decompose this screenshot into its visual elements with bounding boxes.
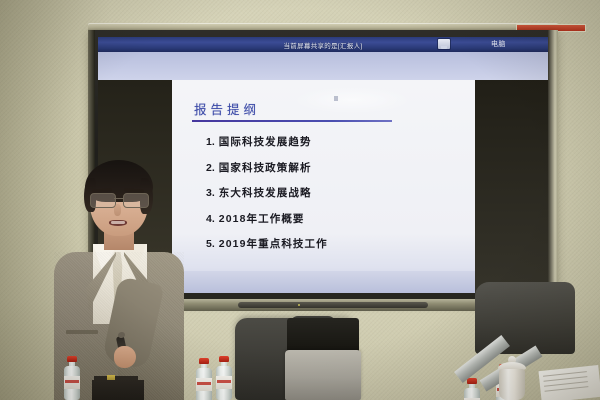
laptop[interactable] [285,350,361,400]
conference-room-photo: 当前屏幕共享的是[汇报人] 电脑 报告提纲 1. 国际科技发展趋势 [0,0,600,400]
teacup [497,356,527,400]
list-item: 5. 2019年重点科技工作 [206,236,466,251]
bottle-label [196,378,212,391]
slide-title-underline [192,120,392,122]
slide-footer-band [172,271,475,293]
slide-title: 报告提纲 [194,99,260,118]
glasses-bridge [114,198,124,199]
screen-share-status-bar: 当前屏幕共享的是[汇报人] 电脑 [98,37,548,52]
glasses-lens-left [90,193,116,208]
list-item-label: 2019年重点科技工作 [219,236,328,251]
slide-outline-list: 1. 国际科技发展趋势 2. 国家科技政策解析 3. 东大科技发展战略 4. 2… [206,134,466,262]
trousers [92,380,144,400]
list-item-label: 2018年工作概要 [219,211,305,226]
share-source-label: 电脑 [491,39,506,49]
share-status-text: 当前屏幕共享的是[汇报人] [283,40,362,50]
bottle-label [216,376,232,389]
list-item-label: 国家科技政策解析 [219,160,312,175]
list-item-number: 4. [206,213,215,225]
presentation-slide[interactable]: 报告提纲 1. 国际科技发展趋势 2. 国家科技政策解析 3. 东大科技发展战略 [172,80,475,293]
soundbar [238,302,428,308]
list-item-number: 1. [206,136,215,148]
bottle-label [64,376,80,389]
hand [114,346,136,368]
list-item: 3. 东大科技发展战略 [206,185,466,200]
list-item-label: 东大科技发展战略 [219,185,312,200]
list-item: 4. 2018年工作概要 [206,211,466,226]
nose [114,204,121,216]
paper-stack [538,365,600,400]
list-item: 1. 国际科技发展趋势 [206,134,466,149]
glasses-lens-right [123,193,149,208]
power-led-icon [298,304,300,306]
mouth [109,220,127,226]
list-item-number: 5. [206,238,215,250]
slide-glare [292,86,412,114]
screen-upper-band [98,52,548,80]
list-item-label: 国际科技发展趋势 [219,134,312,149]
list-item: 2. 国家科技政策解析 [206,160,466,175]
mouse-cursor-icon [334,96,338,101]
letterbox-right [475,80,548,293]
jacket-pocket [66,330,98,334]
display-bezel-right [548,30,558,303]
teacup-body [499,369,525,400]
monitor-icon [438,39,450,49]
list-item-number: 2. [206,162,215,174]
list-item-number: 3. [206,187,215,199]
laptop-screen[interactable] [287,318,359,354]
